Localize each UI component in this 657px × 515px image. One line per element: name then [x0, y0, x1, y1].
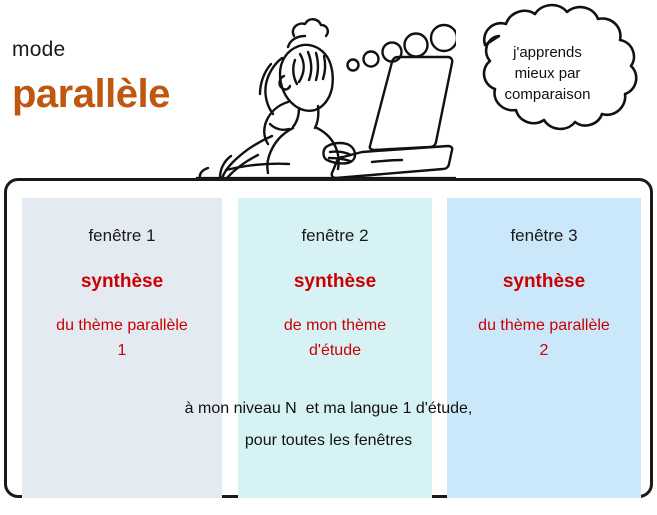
window-panel-1-theme-line-1: du thème parallèle	[22, 313, 222, 338]
window-panel-2[interactable]: fenêtre 2 synthèse de mon thème d'étude	[238, 198, 432, 498]
window-panel-2-content: fenêtre 2 synthèse de mon thème d'étude	[238, 198, 432, 363]
person-at-laptop-illustration	[196, 2, 456, 178]
window-panel-3-synthesis: synthèse	[447, 270, 641, 294]
thought-bubble: j'apprends mieux par comparaison	[438, 2, 657, 138]
mode-label: mode	[12, 38, 65, 62]
mode-title: parallèle	[12, 72, 170, 117]
window-panel-3-label: fenêtre 3	[447, 224, 641, 248]
window-panel-1-synthesis: synthèse	[22, 270, 222, 294]
window-panel-3-content: fenêtre 3 synthèse du thème parallèle 2	[447, 198, 641, 363]
window-panel-3-theme-line-2: 2	[447, 338, 641, 363]
window-panel-1[interactable]: fenêtre 1 synthèse du thème parallèle 1	[22, 198, 222, 498]
parallel-mode-box: fenêtre 1 synthèse du thème parallèle 1 …	[4, 178, 653, 498]
window-panel-1-label: fenêtre 1	[22, 224, 222, 248]
window-panel-3[interactable]: fenêtre 3 synthèse du thème parallèle 2	[447, 198, 641, 498]
window-panel-2-label: fenêtre 2	[238, 224, 432, 248]
window-panel-2-theme-line-2: d'étude	[238, 338, 432, 363]
window-panel-1-content: fenêtre 1 synthèse du thème parallèle 1	[22, 198, 222, 363]
window-panels: fenêtre 1 synthèse du thème parallèle 1 …	[7, 181, 650, 495]
window-panel-2-synthesis: synthèse	[238, 270, 432, 294]
header-area: mode parallèle	[0, 0, 657, 178]
window-panel-3-theme-line-1: du thème parallèle	[447, 313, 641, 338]
window-panel-2-theme-line-1: de mon thème	[238, 313, 432, 338]
window-panel-1-theme-line-2: 1	[22, 338, 222, 363]
